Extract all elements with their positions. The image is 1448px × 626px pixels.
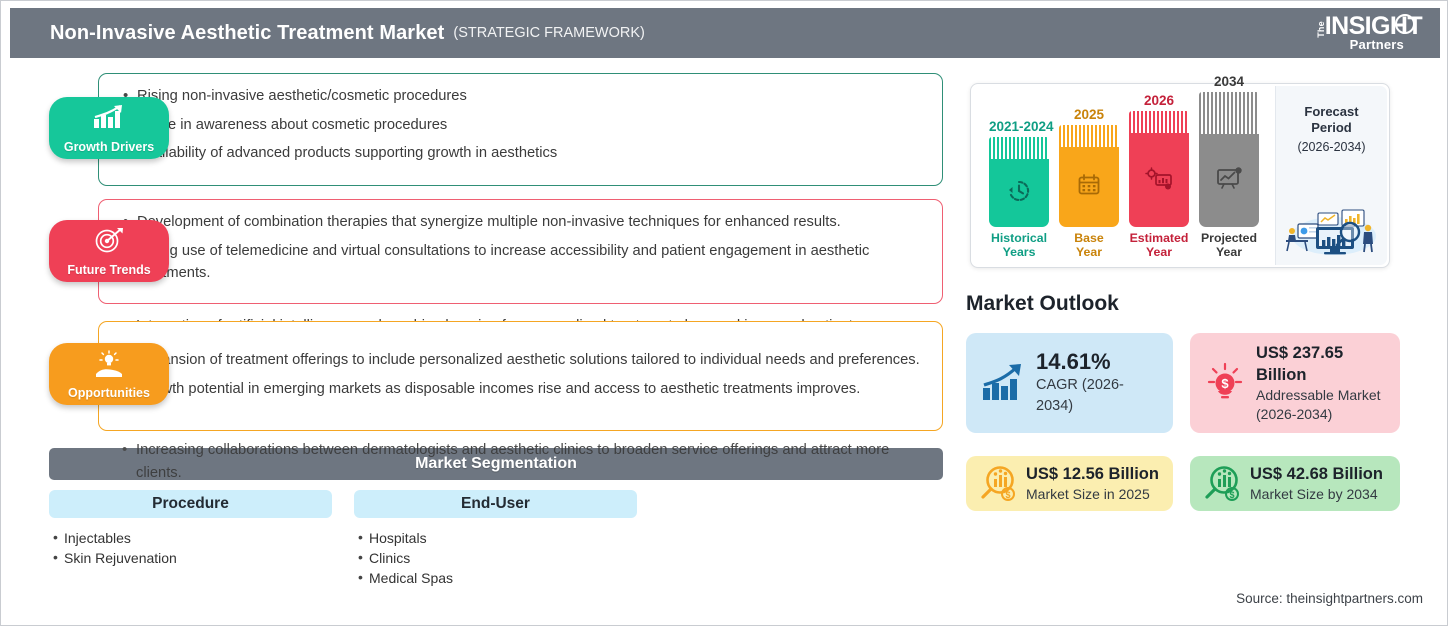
segmentation-header-label: End-User <box>461 495 530 513</box>
segmentation-header-procedure: Procedure <box>49 490 332 518</box>
growth-drivers-label: Growth Drivers <box>64 140 154 154</box>
list-item: Injectables <box>53 528 332 548</box>
segmentation-list-end-user: Hospitals Clinics Medical Spas <box>354 528 637 588</box>
forecast-title: Forecast <box>1304 104 1358 119</box>
segmentation-list-procedure: Injectables Skin Rejuvenation <box>49 528 332 568</box>
future-trends-badge[interactable]: Future Trends <box>49 220 169 282</box>
analytics-team-illustration <box>1278 194 1386 261</box>
metric-card-addressable-market: $ US$ 237.65 Billion Addressable Market … <box>1190 333 1400 433</box>
opportunities-bullets: Expansion of treatment offerings to incl… <box>99 322 944 410</box>
metric-card-cagr: 14.61% CAGR (2026-2034) <box>966 333 1173 433</box>
segmentation-header-end-user: End-User <box>354 490 637 518</box>
logo-partners-text: Partners <box>1350 37 1404 52</box>
page-subtitle: (STRATEGIC FRAMEWORK) <box>453 25 644 41</box>
insight-partners-logo: The INSIGHT Partners <box>1272 12 1422 54</box>
bullet-item: Expansion of treatment offerings to incl… <box>123 349 922 372</box>
bar-chart-up-icon <box>92 104 126 135</box>
opportunities-badge[interactable]: Opportunities <box>49 343 169 405</box>
timeline-caption: Estimated <box>1130 231 1189 245</box>
metric-label: CAGR (2026-2034) <box>1036 375 1159 417</box>
infographic-page: Non-Invasive Aesthetic Treatment Market … <box>0 0 1448 626</box>
metric-card-market-size-2025: $ US$ 12.56 Billion Market Size in 2025 <box>966 456 1173 511</box>
timeline-bar-base: 2025 <box>1059 107 1119 259</box>
timeline-bar-estimated: 2026 <box>1129 93 1189 259</box>
opportunities-overflow-bullets: Increasing collaborations between dermat… <box>122 439 922 484</box>
gear-chart-icon <box>1145 166 1173 195</box>
timeline-caption: Projected <box>1201 231 1257 245</box>
timeline-year-label: 2034 <box>1199 74 1259 89</box>
metric-card-market-size-2034: $ US$ 42.68 Billion Market Size by 2034 <box>1190 456 1400 511</box>
timeline-year-label: 2025 <box>1059 107 1119 122</box>
market-timeline-card: 2021-2024 Historical Years <box>970 83 1390 268</box>
timeline-year-label: 2021-2024 <box>989 119 1049 134</box>
svg-text:$: $ <box>1005 490 1010 500</box>
list-item: Medical Spas <box>358 568 637 588</box>
hand-lightbulb-icon <box>92 350 126 383</box>
monitor-chart-icon <box>1215 166 1243 195</box>
page-title: Non-Invasive Aesthetic Treatment Market <box>50 22 444 45</box>
metric-value: 14.61% <box>1036 349 1159 375</box>
growth-drivers-badge[interactable]: Growth Drivers <box>49 97 169 159</box>
bullet-item: Availability of advanced products suppor… <box>123 142 922 165</box>
metric-value: Billion <box>1256 364 1381 386</box>
metric-value: US$ 42.68 Billion <box>1250 463 1383 485</box>
metric-label: Market Size in 2025 <box>1026 485 1159 504</box>
metric-value: US$ 237.65 <box>1256 342 1381 364</box>
bar-chart-up-icon <box>980 363 1026 403</box>
clock-history-icon <box>1006 178 1032 209</box>
future-trends-box: Development of combination therapies tha… <box>98 199 943 304</box>
logo-bubble-icon <box>1395 14 1415 34</box>
lightbulb-dollar-icon: $ <box>1204 361 1246 405</box>
forecast-title: Period <box>1311 120 1351 135</box>
timeline-caption: Historical <box>991 231 1047 245</box>
svg-text:$: $ <box>1229 490 1234 500</box>
timeline-caption: Year <box>1216 245 1242 259</box>
growth-drivers-bullets: Rising non-invasive aesthetic/cosmetic p… <box>99 74 944 175</box>
opportunities-box: Expansion of treatment offerings to incl… <box>98 321 943 431</box>
forecast-range: (2026-2034) <box>1276 140 1387 154</box>
bullet-item: Surge in awareness about cosmetic proced… <box>123 114 922 137</box>
timeline-caption: Years <box>1003 245 1036 259</box>
growth-drivers-box: Rising non-invasive aesthetic/cosmetic p… <box>98 73 943 186</box>
metric-label: (2026-2034) <box>1256 405 1381 424</box>
bullet-item: Growth potential in emerging markets as … <box>123 378 922 401</box>
segmentation-column-procedure: Procedure Injectables Skin Rejuvenation <box>49 490 332 568</box>
segmentation-header-label: Procedure <box>152 495 229 513</box>
future-trends-label: Future Trends <box>67 263 150 277</box>
target-dart-icon <box>93 227 125 258</box>
future-trends-bullets: Development of combination therapies tha… <box>99 200 944 295</box>
bullet-item: Development of combination therapies tha… <box>123 211 922 234</box>
opportunities-label: Opportunities <box>68 386 150 400</box>
timeline-caption: Year <box>1076 245 1102 259</box>
bullet-item: Increasing collaborations between dermat… <box>122 439 922 484</box>
page-header: Non-Invasive Aesthetic Treatment Market … <box>10 8 1440 58</box>
list-item: Skin Rejuvenation <box>53 548 332 568</box>
market-outlook-title: Market Outlook <box>966 292 1119 316</box>
magnifier-chart-dollar-icon: $ <box>978 464 1018 504</box>
list-item: Hospitals <box>358 528 637 548</box>
timeline-bar-projected: 2034 Projected <box>1199 74 1259 259</box>
metric-label: Addressable Market <box>1256 386 1381 405</box>
timeline-caption: Base <box>1074 231 1103 245</box>
bullet-item: Rising use of telemedicine and virtual c… <box>123 240 922 285</box>
logo-the-text: The <box>1317 21 1326 38</box>
timeline-bar-historical: 2021-2024 Historical Years <box>989 119 1049 259</box>
magnifier-chart-dollar-icon: $ <box>1202 464 1242 504</box>
list-item: Clinics <box>358 548 637 568</box>
bullet-item: Rising non-invasive aesthetic/cosmetic p… <box>123 85 922 108</box>
timeline-caption: Year <box>1146 245 1172 259</box>
segmentation-column-end-user: End-User Hospitals Clinics Medical Spas <box>354 490 637 588</box>
calendar-icon <box>1076 172 1102 203</box>
forecast-period-panel: Forecast Period (2026-2034) <box>1275 86 1387 265</box>
metric-label: Market Size by 2034 <box>1250 485 1383 504</box>
source-text: Source: theinsightpartners.com <box>1236 591 1423 606</box>
timeline-year-label: 2026 <box>1129 93 1189 108</box>
svg-text:$: $ <box>1221 376 1229 391</box>
metric-value: US$ 12.56 Billion <box>1026 463 1159 485</box>
